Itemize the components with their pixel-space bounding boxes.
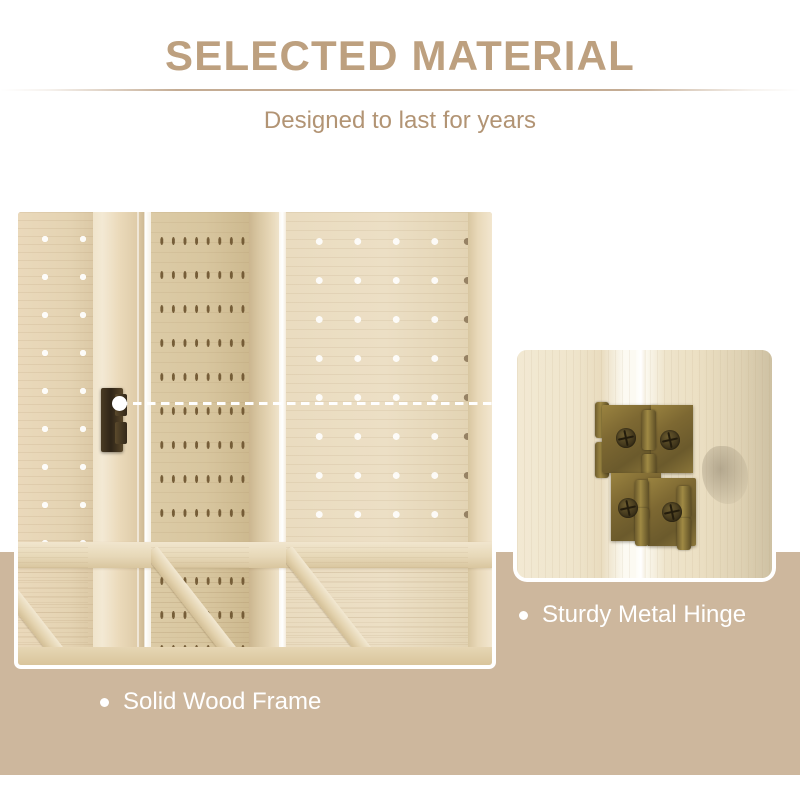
pegboard-holes-left [18, 220, 93, 550]
callout-dashed-line [119, 402, 517, 405]
v-brace-middle [151, 547, 249, 647]
v-brace-left [18, 547, 88, 647]
photo-content [18, 212, 492, 665]
panel-gap-middle [279, 212, 286, 665]
hinge-screw-icon [618, 498, 638, 518]
product-feature-banner: SELECTED MATERIAL Designed to last for y… [0, 0, 800, 800]
hinge-screw-icon [662, 502, 682, 522]
bullet-dot-icon [519, 611, 528, 620]
v-brace-left-backer [18, 547, 88, 647]
hinge-screw-icon [660, 430, 680, 450]
v-brace-right [286, 547, 468, 647]
page-subtitle: Designed to last for years [0, 104, 800, 138]
feature-caption-solid-wood-frame: Solid Wood Frame [100, 687, 321, 717]
hinge-screw-icon [616, 428, 636, 448]
main-product-photo [18, 212, 492, 665]
feature-label: Solid Wood Frame [123, 687, 321, 717]
feature-label: Sturdy Metal Hinge [542, 600, 746, 630]
hinge-closeup-inset [517, 350, 772, 578]
page-title: SELECTED MATERIAL [0, 30, 800, 82]
header: SELECTED MATERIAL Designed to last for y… [0, 0, 800, 150]
frame-rail-middle [249, 212, 279, 665]
title-divider [0, 89, 800, 91]
hinge-knuckle [677, 518, 691, 550]
hinge-knuckle [635, 508, 649, 546]
frame-rail-right [468, 212, 492, 665]
bottom-rail [18, 647, 492, 665]
hinge-knuckle [642, 410, 656, 450]
feature-caption-sturdy-metal-hinge: Sturdy Metal Hinge [519, 600, 746, 630]
connector-dot-icon [112, 396, 127, 411]
pegboard-holes-right-shadowed [438, 222, 472, 552]
bullet-dot-icon [100, 698, 109, 707]
